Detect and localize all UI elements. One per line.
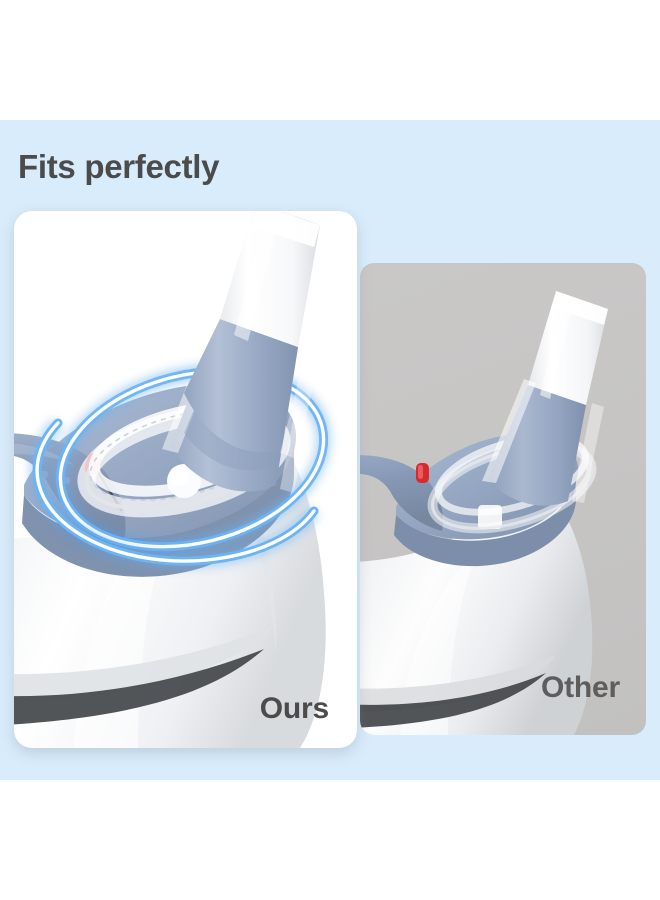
ours-card: Ours: [14, 211, 357, 748]
product-comparison-image: Fits perfectly: [0, 0, 660, 900]
other-panel: Other: [360, 263, 646, 735]
ours-nozzle-front-overlay: [184, 211, 320, 459]
other-product-illustration: [360, 263, 646, 735]
ours-product-illustration: [14, 211, 357, 748]
